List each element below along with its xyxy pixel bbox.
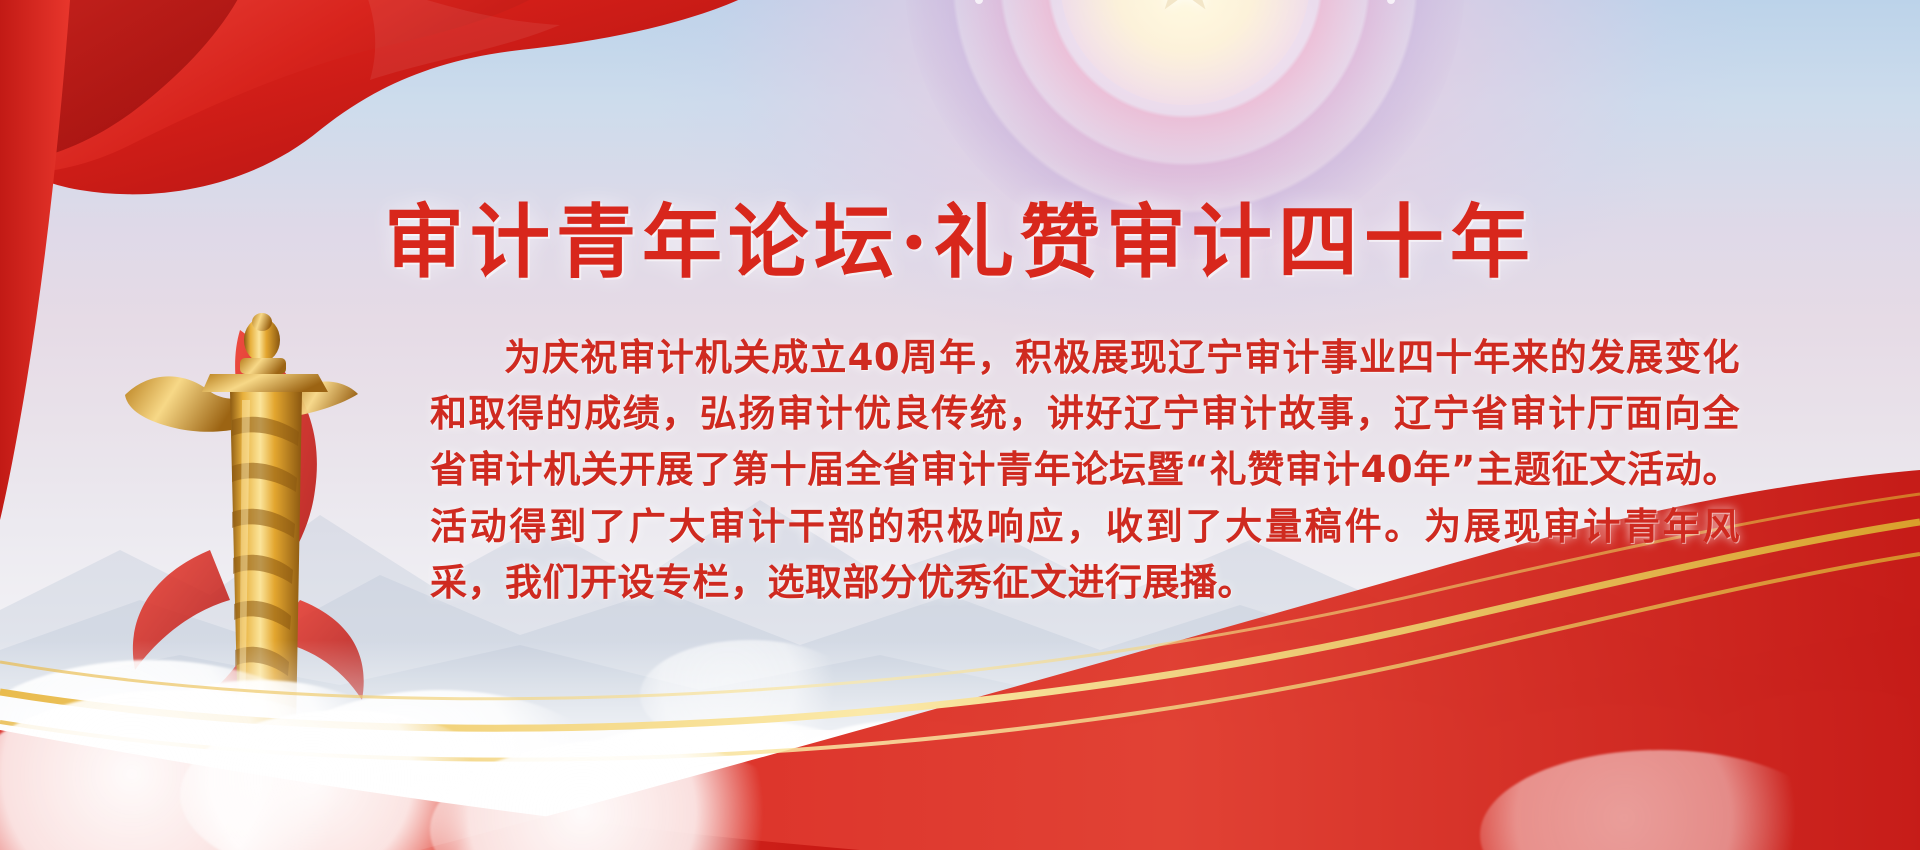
page-title: 审计青年论坛·礼赞审计四十年 bbox=[0, 178, 1920, 294]
banner-root: ★ bbox=[0, 0, 1920, 850]
star-icon: ★ bbox=[1146, 0, 1223, 23]
body-paragraph: 为庆祝审计机关成立40周年，积极展现辽宁审计事业四十年来的发展变化和取得的成绩，… bbox=[430, 330, 1740, 611]
